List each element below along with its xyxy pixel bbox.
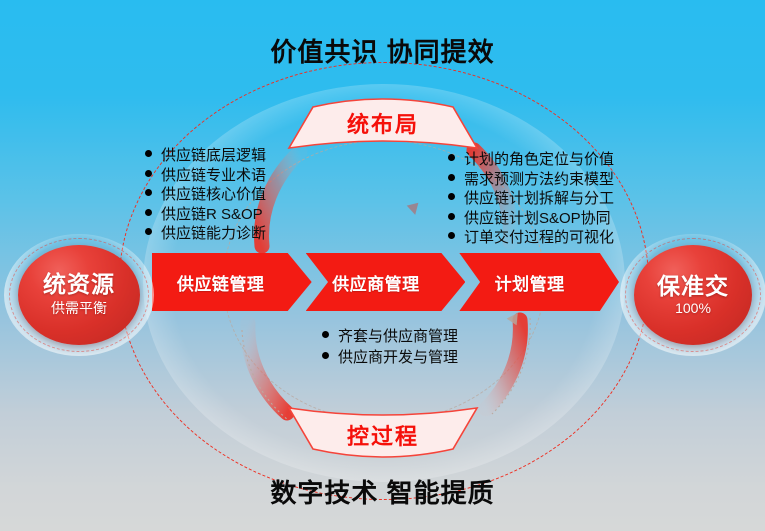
- arc-upper-left: [262, 152, 300, 246]
- list-item: 需求预测方法约束模型: [448, 170, 614, 190]
- side-badge-right[interactable]: 保准交 100%: [620, 234, 765, 356]
- side-badge-sub-label: 100%: [675, 300, 711, 316]
- list-item: 供应链专业术语: [145, 166, 266, 186]
- list-item-label: 供应链计划拆解与分工: [464, 189, 614, 209]
- side-badge-main-label: 保准交: [657, 274, 729, 298]
- list-item: 供应链计划拆解与分工: [448, 189, 614, 209]
- page-title-top: 价值共识 协同提效: [0, 32, 765, 69]
- list-item-label: 齐套与供应商管理: [338, 326, 458, 347]
- bullet-dot-icon: [448, 232, 455, 239]
- list-item-label: 需求预测方法约束模型: [464, 170, 614, 190]
- list-item: 供应链R S&OP: [145, 205, 266, 225]
- banner-bottom[interactable]: 控过程: [283, 406, 483, 458]
- bullet-dot-icon: [448, 154, 455, 161]
- list-item-label: 供应链底层逻辑: [161, 146, 266, 166]
- bullet-dot-icon: [145, 189, 152, 196]
- banner-top[interactable]: 统布局: [283, 98, 483, 150]
- list-item-label: 计划的角色定位与价值: [464, 150, 614, 170]
- process-step-label: 供应链管理: [177, 270, 287, 295]
- side-badge-main-label: 统资源: [43, 272, 115, 296]
- list-item-label: 供应链R S&OP: [161, 205, 263, 225]
- process-step-supplier-management[interactable]: 供应商管理: [306, 253, 466, 311]
- side-badge-circle: 统资源 供需平衡: [18, 245, 140, 345]
- list-item: 供应链能力诊断: [145, 224, 266, 244]
- bullet-dot-icon: [145, 150, 152, 157]
- process-step-label: 计划管理: [495, 270, 584, 295]
- bullet-dot-icon: [448, 174, 455, 181]
- list-item: 供应链计划S&OP协同: [448, 209, 614, 229]
- list-item-label: 订单交付过程的可视化: [464, 228, 614, 248]
- list-item: 订单交付过程的可视化: [448, 228, 614, 248]
- bullet-list-right: 计划的角色定位与价值 需求预测方法约束模型 供应链计划拆解与分工 供应链计划S&…: [448, 150, 614, 248]
- list-item-label: 供应链核心价值: [161, 185, 266, 205]
- list-item-label: 供应商开发与管理: [338, 347, 458, 368]
- side-badge-left[interactable]: 统资源 供需平衡: [4, 234, 154, 356]
- list-item: 供应商开发与管理: [322, 347, 458, 368]
- process-step-label: 供应商管理: [332, 270, 439, 295]
- list-item-label: 供应链计划S&OP协同: [464, 209, 611, 229]
- arc-lower-left: [248, 323, 287, 413]
- diagram-canvas: 价值共识 协同提效 统布局 供应链底层逻辑 供应链专业术语 供应链核心价值 供应…: [0, 0, 765, 531]
- arrow-head-left: [407, 203, 421, 217]
- bullet-dot-icon: [322, 352, 329, 359]
- bullet-dot-icon: [448, 213, 455, 220]
- page-title-bottom: 数字技术 智能提质: [0, 473, 765, 510]
- bullet-list-bottom: 齐套与供应商管理 供应商开发与管理: [322, 326, 458, 368]
- list-item: 供应链底层逻辑: [145, 146, 266, 166]
- bullet-dot-icon: [322, 331, 329, 338]
- list-item-label: 供应链能力诊断: [161, 224, 266, 244]
- list-item: 供应链核心价值: [145, 185, 266, 205]
- process-step-supply-chain-management[interactable]: 供应链管理: [152, 253, 312, 311]
- bullet-list-left: 供应链底层逻辑 供应链专业术语 供应链核心价值 供应链R S&OP 供应链能力诊…: [145, 146, 266, 244]
- side-badge-circle: 保准交 100%: [634, 245, 752, 345]
- banner-top-label: 统布局: [347, 107, 419, 139]
- list-item-label: 供应链专业术语: [161, 166, 266, 186]
- process-step-plan-management[interactable]: 计划管理: [459, 253, 619, 311]
- arc-lower-right: [486, 320, 520, 409]
- list-item: 齐套与供应商管理: [322, 326, 458, 347]
- process-chevron-row: 供应链管理 供应商管理 计划管理: [152, 253, 619, 311]
- bullet-dot-icon: [448, 193, 455, 200]
- list-item: 计划的角色定位与价值: [448, 150, 614, 170]
- bullet-dot-icon: [145, 170, 152, 177]
- banner-bottom-label: 控过程: [347, 419, 419, 451]
- side-badge-sub-label: 供需平衡: [51, 298, 107, 318]
- bullet-dot-icon: [145, 209, 152, 216]
